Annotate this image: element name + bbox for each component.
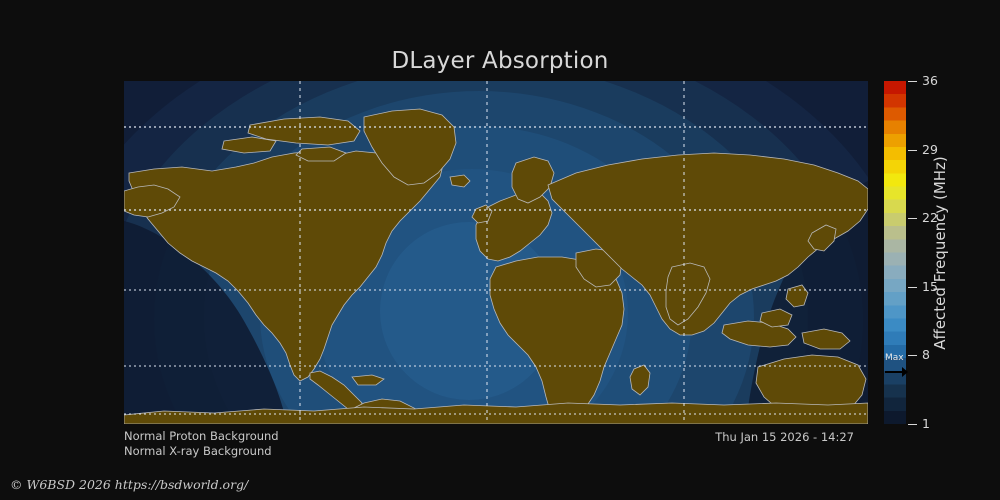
colorbar-gradient (884, 81, 906, 424)
colorbar-tick-label-8: 8 (922, 349, 930, 361)
colorbar-axis-label: Affected Frequency (MHz) (930, 81, 950, 424)
page-title: DLayer Absorption (0, 48, 1000, 74)
colorbar[interactable]: Max 1815222936 (884, 81, 906, 424)
dlayer-absorption-chart: DLayer Absorption (0, 0, 1000, 500)
colorbar-tick-mark-22 (908, 218, 917, 219)
map-canvas (124, 81, 868, 424)
timestamp: Thu Jan 15 2026 - 14:27 (0, 430, 854, 444)
world-map[interactable] (124, 81, 868, 424)
colorbar-tick-mark-29 (908, 150, 917, 151)
colorbar-tick-label-1: 1 (922, 418, 930, 430)
status-xray: Normal X-ray Background (124, 444, 279, 459)
copyright: © W6BSD 2026 https://bsdworld.org/ (10, 477, 248, 492)
colorbar-tick-mark-1 (908, 424, 917, 425)
colorbar-tick-mark-15 (908, 287, 917, 288)
colorbar-axis-label-text: Affected Frequency (MHz) (931, 156, 949, 350)
colorbar-tick-mark-36 (908, 81, 917, 82)
colorbar-tick-mark-8 (908, 355, 917, 356)
